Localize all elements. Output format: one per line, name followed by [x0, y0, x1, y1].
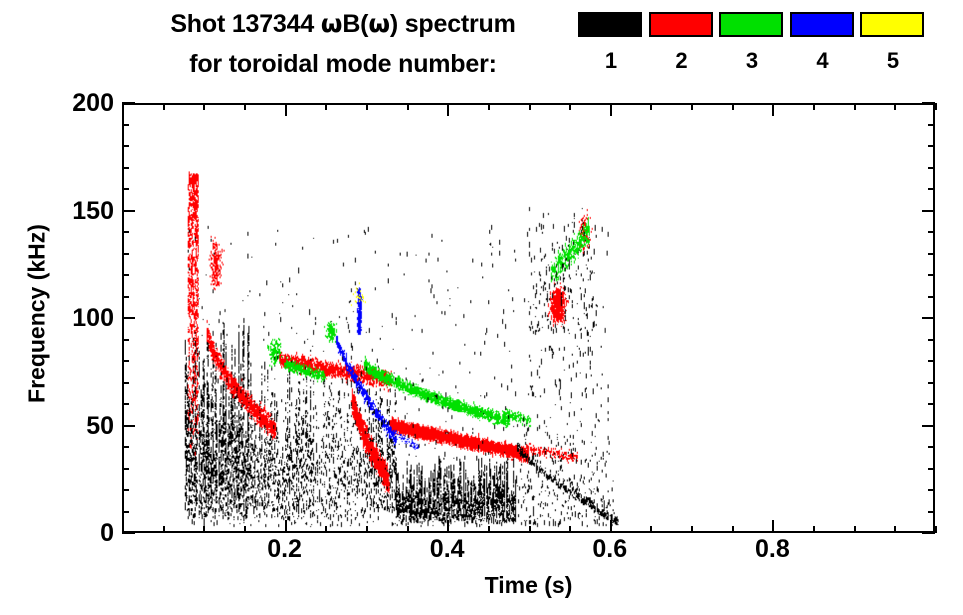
legend-label-mode-4: 4	[790, 48, 856, 74]
omega-symbol-1: ω	[321, 9, 343, 38]
title-shot-text: Shot 137344	[170, 10, 320, 38]
x-tick-top	[610, 103, 612, 116]
y-tick-left	[122, 210, 135, 212]
x-tick-top	[569, 103, 571, 110]
x-tick-bottom	[854, 526, 856, 533]
legend-swatch-mode-2	[649, 12, 713, 37]
x-tick-label-0.8: 0.8	[732, 537, 812, 562]
x-tick-bottom	[285, 520, 287, 533]
y-tick-right	[928, 339, 935, 341]
x-tick-bottom	[447, 520, 449, 533]
title-spectrum-text: ) spectrum	[390, 10, 516, 38]
x-tick-bottom	[894, 526, 896, 533]
x-tick-top	[325, 103, 327, 110]
x-tick-bottom	[732, 526, 734, 533]
legend-label-mode-1: 1	[578, 48, 644, 74]
legend-item-mode-3[interactable]: 3	[719, 12, 785, 74]
y-tick-left	[122, 274, 129, 276]
y-tick-right	[928, 274, 935, 276]
y-tick-left	[122, 188, 129, 190]
x-tick-bottom	[610, 520, 612, 533]
y-tick-right	[928, 382, 935, 384]
x-tick-bottom	[569, 526, 571, 533]
y-tick-right	[928, 296, 935, 298]
y-tick-right	[922, 210, 935, 212]
y-tick-right	[922, 102, 935, 104]
x-tick-top	[529, 103, 531, 110]
x-tick-bottom	[407, 526, 409, 533]
y-tick-right	[928, 253, 935, 255]
x-tick-top	[894, 103, 896, 110]
title-line-2: for toroidal mode number:	[108, 44, 578, 84]
x-tick-bottom	[691, 526, 693, 533]
x-axis-label: Time (s)	[122, 572, 935, 599]
legend: 12345	[578, 12, 930, 90]
legend-item-mode-5[interactable]: 5	[860, 12, 926, 74]
legend-swatch-mode-4	[790, 12, 854, 37]
y-tick-left	[122, 102, 135, 104]
y-tick-left	[122, 468, 129, 470]
x-tick-top	[854, 103, 856, 110]
y-tick-left	[122, 296, 129, 298]
spectrogram-figure: Shot 137344 ωB(ω) spectrum for toroidal …	[0, 0, 963, 615]
x-tick-top	[813, 103, 815, 110]
legend-item-mode-1[interactable]: 1	[578, 12, 644, 74]
x-tick-label-0.2: 0.2	[245, 537, 325, 562]
x-tick-top	[285, 103, 287, 116]
x-tick-top	[122, 103, 124, 110]
y-tick-right	[928, 360, 935, 362]
x-tick-bottom	[813, 526, 815, 533]
y-tick-left	[122, 253, 129, 255]
y-tick-left	[122, 489, 129, 491]
x-tick-top	[366, 103, 368, 110]
x-tick-bottom	[325, 526, 327, 533]
y-tick-label-200: 200	[14, 91, 114, 116]
title-line-1: Shot 137344 ωB(ω) spectrum	[108, 4, 578, 44]
legend-swatch-mode-5	[860, 12, 924, 37]
figure-title: Shot 137344 ωB(ω) spectrum for toroidal …	[108, 4, 578, 84]
x-tick-top	[203, 103, 205, 110]
x-tick-top	[163, 103, 165, 110]
legend-swatch-mode-3	[719, 12, 783, 37]
y-tick-right	[928, 511, 935, 513]
x-tick-top	[935, 103, 937, 110]
x-tick-label-0.4: 0.4	[407, 537, 487, 562]
y-tick-right	[928, 188, 935, 190]
y-tick-left	[122, 317, 135, 319]
y-tick-right	[928, 468, 935, 470]
legend-item-mode-2[interactable]: 2	[649, 12, 715, 74]
x-tick-top	[691, 103, 693, 110]
x-tick-top	[732, 103, 734, 110]
legend-item-mode-4[interactable]: 4	[790, 12, 856, 74]
y-tick-right	[928, 145, 935, 147]
x-tick-top	[650, 103, 652, 110]
x-tick-top	[488, 103, 490, 110]
title-b-open: B(	[342, 10, 368, 38]
y-tick-left	[122, 511, 129, 513]
omega-symbol-2: ω	[368, 9, 390, 38]
x-tick-bottom	[163, 526, 165, 533]
y-tick-right	[922, 532, 935, 534]
y-tick-right	[928, 403, 935, 405]
plot-area	[122, 103, 935, 533]
y-tick-left	[122, 124, 129, 126]
y-tick-left	[122, 167, 129, 169]
y-tick-left	[122, 403, 129, 405]
x-tick-top	[447, 103, 449, 116]
x-axis-tick-labels: 0.20.40.60.8	[122, 537, 935, 573]
y-tick-left	[122, 382, 129, 384]
y-tick-right	[928, 489, 935, 491]
x-tick-bottom	[488, 526, 490, 533]
y-tick-left	[122, 339, 129, 341]
y-tick-left	[122, 532, 135, 534]
y-tick-left	[122, 231, 129, 233]
y-tick-left	[122, 360, 129, 362]
y-tick-right	[928, 446, 935, 448]
x-tick-bottom	[772, 520, 774, 533]
legend-label-mode-2: 2	[649, 48, 715, 74]
spectrogram-canvas	[124, 105, 933, 531]
legend-swatch-mode-1	[578, 12, 642, 37]
y-tick-label-0: 0	[14, 521, 114, 546]
legend-label-mode-3: 3	[719, 48, 785, 74]
x-tick-top	[407, 103, 409, 110]
y-tick-left	[122, 145, 129, 147]
x-tick-bottom	[203, 526, 205, 533]
x-tick-bottom	[366, 526, 368, 533]
y-axis-label: Frequency (kHz)	[24, 194, 51, 434]
x-tick-label-0.6: 0.6	[570, 537, 650, 562]
y-axis-tick-labels: 050100150200	[4, 103, 114, 533]
x-tick-top	[244, 103, 246, 110]
y-tick-right	[928, 124, 935, 126]
y-tick-left	[122, 425, 135, 427]
y-tick-right	[922, 317, 935, 319]
y-tick-left	[122, 446, 129, 448]
x-tick-bottom	[244, 526, 246, 533]
y-tick-right	[928, 231, 935, 233]
legend-label-mode-5: 5	[860, 48, 926, 74]
x-tick-bottom	[529, 526, 531, 533]
y-tick-right	[928, 167, 935, 169]
y-tick-right	[922, 425, 935, 427]
x-tick-bottom	[935, 526, 937, 533]
x-tick-top	[772, 103, 774, 116]
x-tick-bottom	[650, 526, 652, 533]
